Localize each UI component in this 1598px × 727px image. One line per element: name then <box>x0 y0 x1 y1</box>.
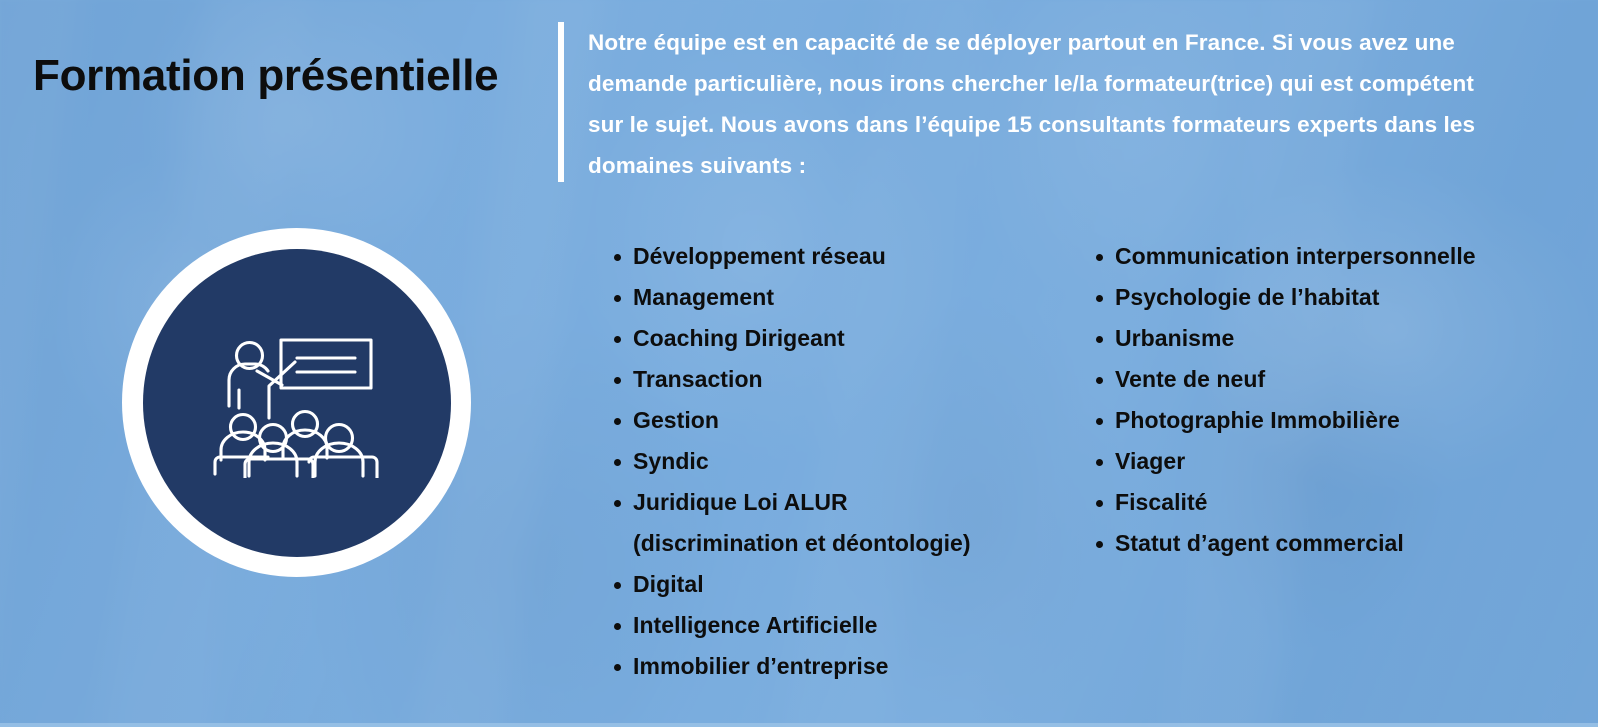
list-item: Urbanisme <box>1094 318 1564 359</box>
badge-circle <box>122 228 471 577</box>
list-item: Transaction <box>612 359 1042 400</box>
list-item: Intelligence Artificielle <box>612 605 1042 646</box>
skills-column-left: Développement réseau Management Coaching… <box>612 236 1042 687</box>
list-item: Communication interpersonnelle <box>1094 236 1564 277</box>
skills-list-left: Développement réseau Management Coaching… <box>612 236 1042 687</box>
skills-column-right: Communication interpersonnelle Psycholog… <box>1094 236 1564 564</box>
list-item: Vente de neuf <box>1094 359 1564 400</box>
skills-list-right: Communication interpersonnelle Psycholog… <box>1094 236 1564 564</box>
list-item: Développement réseau <box>612 236 1042 277</box>
list-item: Fiscalité <box>1094 482 1564 523</box>
list-item: Juridique Loi ALUR (discrimination et dé… <box>612 482 1042 564</box>
classroom-training-icon <box>209 328 385 478</box>
intro-paragraph: Notre équipe est en capacité de se déplo… <box>588 22 1508 186</box>
formation-presentielle-slide: Formation présentielle Notre équipe est … <box>0 0 1598 727</box>
list-item: Photographie Immobilière <box>1094 400 1564 441</box>
page-title: Formation présentielle <box>33 52 543 100</box>
vertical-divider <box>558 22 564 182</box>
list-item: Statut d’agent commercial <box>1094 523 1564 564</box>
list-item: Gestion <box>612 400 1042 441</box>
list-item: Syndic <box>612 441 1042 482</box>
list-item: Psychologie de l’habitat <box>1094 277 1564 318</box>
bottom-strip <box>0 723 1598 727</box>
badge-disc <box>143 249 451 557</box>
list-item: Digital <box>612 564 1042 605</box>
list-item: Management <box>612 277 1042 318</box>
list-item: Coaching Dirigeant <box>612 318 1042 359</box>
list-item: Immobilier d’entreprise <box>612 646 1042 687</box>
list-item: Viager <box>1094 441 1564 482</box>
